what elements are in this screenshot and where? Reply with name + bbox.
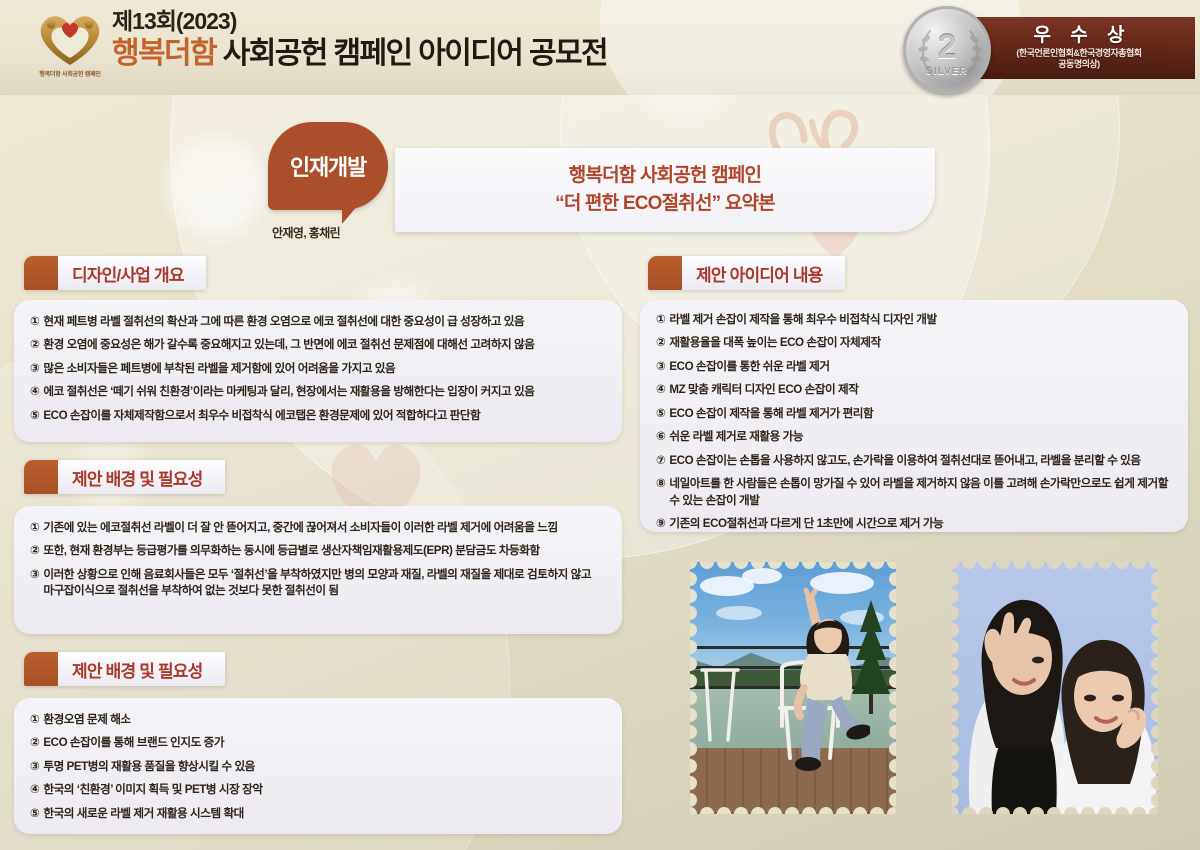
poster-root: 행복더함 사회공헌 캠페인 제13회(2023) 행복더함 사회공헌 캠페인 아… [0, 0, 1200, 850]
list-item: ⑤ECO 손잡이 제작을 통해 라벨 제거가 편리함 [656, 406, 1170, 422]
list-item: ①환경오염 문제 해소 [30, 712, 604, 728]
list-item-number: ② [30, 735, 39, 751]
award-title: 우 수 상 [1027, 26, 1132, 47]
list-item-text: ECO 손잡이는 손톱을 사용하지 않고도, 손가락을 이용하여 절취선대로 뜯… [669, 453, 1170, 469]
list-item-number: ⑥ [656, 429, 665, 445]
list-item-text: ECO 손잡이 제작을 통해 라벨 제거가 편리함 [669, 406, 1170, 422]
campaign-logo: 행복더함 사회공헌 캠페인 [24, 8, 116, 88]
award-subtitle-line1: (한국언론인협회&한국경영자총협회 [1016, 48, 1141, 58]
list-item: ④MZ 맞춤 캐릭터 디자인 ECO 손잡이 제작 [656, 382, 1170, 398]
section-list: ①환경오염 문제 해소 ②ECO 손잡이를 통해 브랜드 인지도 증가 ③투명 … [30, 712, 604, 822]
list-item: ⑧네일아트를 한 사람들은 손톱이 망가질 수 있어 라벨을 제거하지 않음 이… [656, 476, 1170, 509]
list-item-number: ③ [30, 567, 39, 583]
list-item: ①라벨 제거 손잡이 제작을 통해 최우수 비접착식 디자인 개발 [656, 312, 1170, 328]
list-item: ②또한, 현재 환경부는 등급평가를 의무화하는 동시에 등급별로 생산자책임재… [30, 543, 604, 559]
section-title-plate: 제안 아이디어 내용 [682, 256, 845, 290]
list-item-text: 에코 절취선은 ‘떼기 쉬워 친환경’이라는 마케팅과 달리, 현장에서는 재활… [43, 384, 604, 400]
list-item-number: ⑧ [656, 476, 665, 492]
list-item: ④에코 절취선은 ‘떼기 쉬워 친환경’이라는 마케팅과 달리, 현장에서는 재… [30, 384, 604, 400]
list-item-number: ① [30, 520, 39, 536]
laurel-wreath-icon [906, 9, 994, 97]
list-item-number: ⑤ [30, 806, 39, 822]
list-item: ③투명 PET병의 재활용 품질을 향상시킬 수 있음 [30, 759, 604, 775]
section-card-proposal-background: ①기존에 있는 에코절취선 라벨이 더 잘 안 뜯어지고, 중간에 끊어져서 소… [14, 506, 622, 634]
author-names: 안재영, 홍채린 [272, 224, 340, 241]
list-item: ②환경 오염에 중요성은 해가 갈수록 중요해지고 있는데, 그 반면에 에코 … [30, 337, 604, 353]
section-title: 제안 배경 및 필요성 [72, 465, 203, 490]
list-item-text: 많은 소비자들은 페트병에 부착된 라벨을 제거함에 있어 어려움을 가지고 있… [43, 361, 604, 377]
photo-frame [690, 562, 896, 814]
list-item-text: ECO 손잡이를 통한 쉬운 라벨 제거 [669, 359, 1170, 375]
list-item: ②ECO 손잡이를 통해 브랜드 인지도 증가 [30, 735, 604, 751]
list-item: ①기존에 있는 에코절취선 라벨이 더 잘 안 뜯어지고, 중간에 끊어져서 소… [30, 520, 604, 536]
category-bubble-body: 인재개발 [268, 122, 388, 210]
contest-title: 행복더함 사회공헌 캠페인 아이디어 공모전 [112, 36, 607, 72]
summary-title-line1: 행복더함 사회공헌 캠페인 [569, 162, 761, 190]
list-item-text: 기존에 있는 에코절취선 라벨이 더 잘 안 뜯어지고, 중간에 끊어져서 소비… [43, 520, 604, 536]
section-tab-icon [24, 460, 58, 494]
section-header-proposal-background: 제안 배경 및 필요성 [24, 460, 225, 494]
section-tab-icon [24, 652, 58, 686]
category-bubble-tail [342, 198, 364, 224]
list-item-number: ⑨ [656, 516, 665, 532]
section-title-plate: 제안 배경 및 필요성 [58, 460, 225, 494]
list-item-number: ① [656, 312, 665, 328]
list-item-number: ③ [30, 361, 39, 377]
list-item: ③ECO 손잡이를 통한 쉬운 라벨 제거 [656, 359, 1170, 375]
list-item-text: 현재 페트병 라벨 절취선의 확산과 그에 따른 환경 오염으로 에코 절취선에… [43, 314, 604, 330]
list-item: ②재활용율을 대폭 높이는 ECO 손잡이 자체제작 [656, 335, 1170, 351]
contest-title-accent: 행복더함 [112, 37, 216, 70]
section-title-plate: 제안 배경 및 필요성 [58, 652, 225, 686]
list-item-number: ② [30, 337, 39, 353]
summary-title-card: 행복더함 사회공헌 캠페인 “더 편한 ECO절취선” 요약본 [395, 148, 935, 232]
photo-two-people [952, 562, 1158, 814]
category-bubble: 인재개발 [268, 122, 388, 230]
list-item-number: ⑤ [656, 406, 665, 422]
section-list: ①현재 페트병 라벨 절취선의 확산과 그에 따른 환경 오염으로 에코 절취선… [30, 314, 604, 424]
photo-cloud [742, 568, 782, 584]
list-item: ③이러한 상황으로 인해 음료회사들은 모두 ‘절취선’을 부착하였지만 병의 … [30, 567, 604, 600]
silver-medal-icon: 2 SILVER [903, 6, 991, 94]
photo-cloud [716, 606, 762, 620]
list-item-text: 한국의 ‘친환경’ 이미지 획득 및 PET병 시장 장악 [43, 782, 604, 798]
heart-logo-icon [34, 8, 106, 68]
summary-title-line2: “더 편한 ECO절취선” 요약본 [555, 190, 775, 218]
photo-frame [952, 562, 1158, 814]
section-list: ①기존에 있는 에코절취선 라벨이 더 잘 안 뜯어지고, 중간에 끊어져서 소… [30, 520, 604, 600]
photo-people [952, 562, 1158, 814]
contest-title-rest: 사회공헌 캠페인 아이디어 공모전 [216, 37, 607, 70]
list-item-number: ① [30, 712, 39, 728]
list-item-number: ② [656, 335, 665, 351]
award-subtitle-line2: 공동명의상) [1058, 59, 1099, 69]
list-item-text: ECO 손잡이를 통해 브랜드 인지도 증가 [43, 735, 604, 751]
photo-person [764, 584, 870, 774]
section-card-design-overview: ①현재 페트병 라벨 절취선의 확산과 그에 따른 환경 오염으로 에코 절취선… [14, 300, 622, 442]
section-title-plate: 디자인/사업 개요 [58, 256, 206, 290]
list-item: ⑦ECO 손잡이는 손톱을 사용하지 않고도, 손가락을 이용하여 절취선대로 … [656, 453, 1170, 469]
contest-edition: 제13회(2023) [112, 8, 607, 34]
section-title: 제안 배경 및 필요성 [72, 657, 203, 682]
list-item-number: ④ [656, 382, 665, 398]
list-item-text: 또한, 현재 환경부는 등급평가를 의무화하는 동시에 등급별로 생산자책임재활… [43, 543, 604, 559]
list-item-text: MZ 맞춤 캐릭터 디자인 ECO 손잡이 제작 [669, 382, 1170, 398]
list-item-text: 환경 오염에 중요성은 해가 갈수록 중요해지고 있는데, 그 반면에 에코 절… [43, 337, 604, 353]
poster-title-block: 제13회(2023) 행복더함 사회공헌 캠페인 아이디어 공모전 [112, 8, 607, 72]
award-subtitle: (한국언론인협회&한국경영자총협회 공동명의상) [1016, 48, 1141, 71]
category-label: 인재개발 [290, 150, 366, 182]
section-tab-icon [648, 256, 682, 290]
section-header-proposal-idea: 제안 아이디어 내용 [648, 256, 845, 290]
list-item-text: 재활용율을 대폭 높이는 ECO 손잡이 자체제작 [669, 335, 1170, 351]
section-card-expected-effects: ①환경오염 문제 해소 ②ECO 손잡이를 통해 브랜드 인지도 증가 ③투명 … [14, 698, 622, 834]
list-item: ③많은 소비자들은 페트병에 부착된 라벨을 제거함에 있어 어려움을 가지고 … [30, 361, 604, 377]
list-item-text: 환경오염 문제 해소 [43, 712, 604, 728]
section-tab-icon [24, 256, 58, 290]
list-item-number: ④ [30, 782, 39, 798]
list-item-number: ② [30, 543, 39, 559]
list-item: ⑥쉬운 라벨 제거로 재활용 가능 [656, 429, 1170, 445]
section-list: ①라벨 제거 손잡이 제작을 통해 최우수 비접착식 디자인 개발 ②재활용율을… [656, 312, 1170, 533]
list-item-number: ③ [656, 359, 665, 375]
list-item: ⑨기존의 ECO절취선과 다르게 단 1초만에 시간으로 제거 가능 [656, 516, 1170, 532]
list-item-number: ③ [30, 759, 39, 775]
list-item-number: ① [30, 314, 39, 330]
list-item-text: 이러한 상황으로 인해 음료회사들은 모두 ‘절취선’을 부착하였지만 병의 모… [43, 567, 604, 600]
list-item-text: 투명 PET병의 재활용 품질을 향상시킬 수 있음 [43, 759, 604, 775]
list-item: ⑤한국의 새로운 라벨 제거 재활용 시스템 확대 [30, 806, 604, 822]
list-item-text: 한국의 새로운 라벨 제거 재활용 시스템 확대 [43, 806, 604, 822]
list-item: ⑤ECO 손잡이를 자체제작함으로서 최우수 비접착식 에코탭은 환경문제에 있… [30, 408, 604, 424]
list-item: ①현재 페트병 라벨 절취선의 확산과 그에 따른 환경 오염으로 에코 절취선… [30, 314, 604, 330]
list-item-number: ⑦ [656, 453, 665, 469]
list-item-text: ECO 손잡이를 자체제작함으로서 최우수 비접착식 에코탭은 환경문제에 있어… [43, 408, 604, 424]
list-item-number: ④ [30, 384, 39, 400]
section-card-proposal-idea: ①라벨 제거 손잡이 제작을 통해 최우수 비접착식 디자인 개발 ②재활용율을… [640, 300, 1188, 532]
list-item-text: 기존의 ECO절취선과 다르게 단 1초만에 시간으로 제거 가능 [669, 516, 1170, 532]
section-title: 디자인/사업 개요 [72, 261, 184, 286]
photo-outdoor-lake [690, 562, 896, 814]
section-header-expected-effects: 제안 배경 및 필요성 [24, 652, 225, 686]
list-item-text: 쉬운 라벨 제거로 재활용 가능 [669, 429, 1170, 445]
list-item: ④한국의 ‘친환경’ 이미지 획득 및 PET병 시장 장악 [30, 782, 604, 798]
list-item-text: 네일아트를 한 사람들은 손톱이 망가질 수 있어 라벨을 제거하지 않음 이를… [669, 476, 1170, 509]
section-title: 제안 아이디어 내용 [696, 261, 823, 286]
logo-caption: 행복더함 사회공헌 캠페인 [39, 69, 100, 78]
photo-table [698, 660, 742, 746]
section-header-design-overview: 디자인/사업 개요 [24, 256, 206, 290]
list-item-text: 라벨 제거 손잡이 제작을 통해 최우수 비접착식 디자인 개발 [669, 312, 1170, 328]
list-item-number: ⑤ [30, 408, 39, 424]
